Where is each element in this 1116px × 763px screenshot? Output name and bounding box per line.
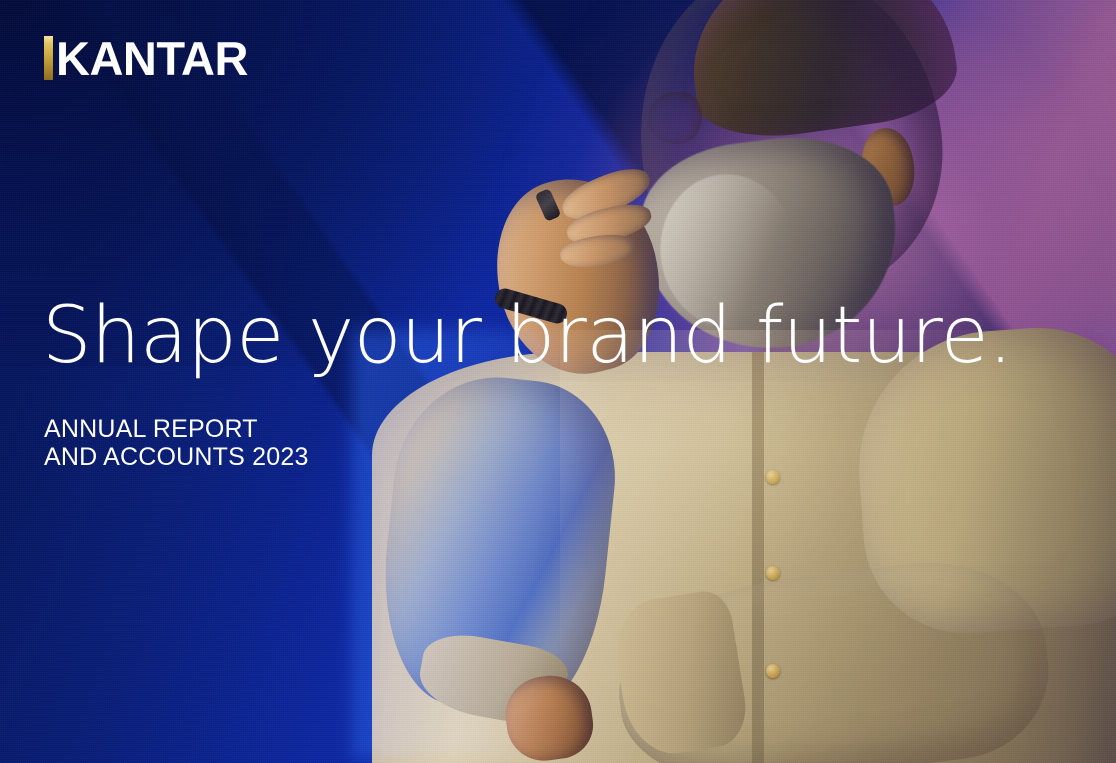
warm-key-light — [560, 330, 1116, 763]
subtitle-line-1: ANNUAL REPORT — [44, 415, 309, 443]
cover-photograph — [0, 0, 1116, 763]
cover-subtitle: ANNUAL REPORT AND ACCOUNTS 2023 — [44, 415, 309, 471]
kantar-logo[interactable]: KANTAR — [44, 30, 248, 86]
subject-nose — [648, 92, 702, 144]
cover-headline: Shape your brand future. — [42, 297, 1012, 375]
kantar-wordmark: KANTAR — [56, 35, 248, 82]
subtitle-line-2: AND ACCOUNTS 2023 — [44, 443, 309, 471]
kantar-gold-bar-icon — [44, 36, 53, 80]
report-cover-page: KANTAR Shape your brand future. ANNUAL R… — [0, 0, 1116, 763]
